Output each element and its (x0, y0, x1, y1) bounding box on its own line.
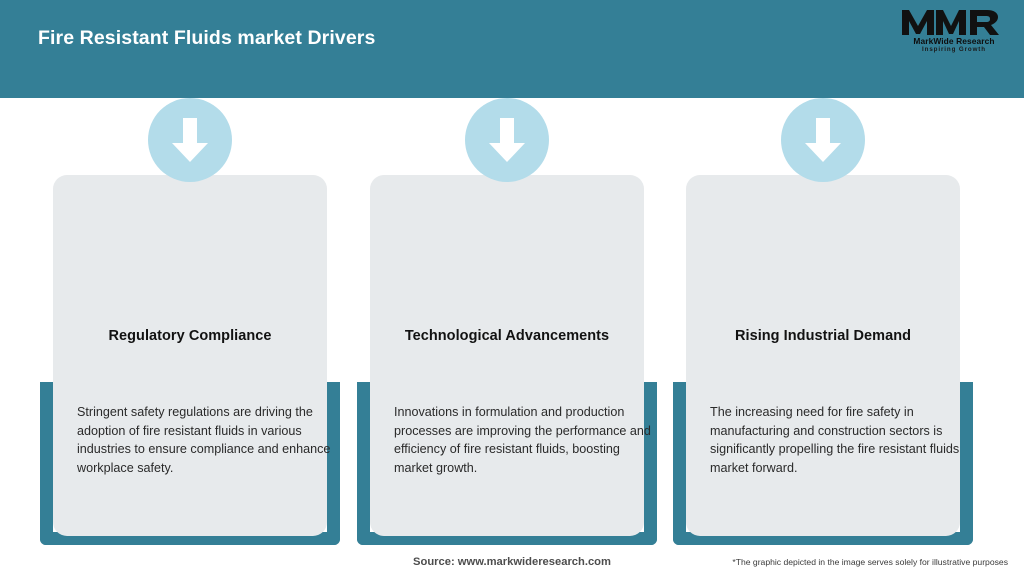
driver-card-1: Regulatory Compliance Stringent safety r… (40, 98, 340, 538)
card-body-text: The increasing need for fire safety in m… (710, 403, 970, 477)
down-arrow-icon (465, 98, 549, 182)
card-body-text: Stringent safety regulations are driving… (77, 403, 337, 477)
down-arrow-icon (781, 98, 865, 182)
down-arrow-icon (148, 98, 232, 182)
drivers-card-row: Regulatory Compliance Stringent safety r… (0, 98, 1024, 538)
disclaimer-label: *The graphic depicted in the image serve… (732, 557, 1008, 567)
brand-logo: MarkWide Research Inspiring Growth (902, 9, 1006, 57)
logo-company-name: MarkWide Research (902, 36, 1006, 46)
card-panel: Rising Industrial Demand The increasing … (686, 175, 960, 536)
card-panel: Regulatory Compliance Stringent safety r… (53, 175, 327, 536)
card-title: Regulatory Compliance (63, 328, 317, 344)
page-title: Fire Resistant Fluids market Drivers (38, 27, 375, 50)
driver-card-2: Technological Advancements Innovations i… (357, 98, 657, 538)
header-banner: Fire Resistant Fluids market Drivers Mar… (0, 0, 1024, 98)
logo-tagline: Inspiring Growth (902, 46, 1006, 53)
driver-card-3: Rising Industrial Demand The increasing … (673, 98, 973, 538)
card-title: Rising Industrial Demand (696, 328, 950, 344)
card-body-text: Innovations in formulation and productio… (394, 403, 654, 477)
card-panel: Technological Advancements Innovations i… (370, 175, 644, 536)
mwr-logo-icon (902, 9, 1006, 36)
card-title: Technological Advancements (380, 328, 634, 344)
